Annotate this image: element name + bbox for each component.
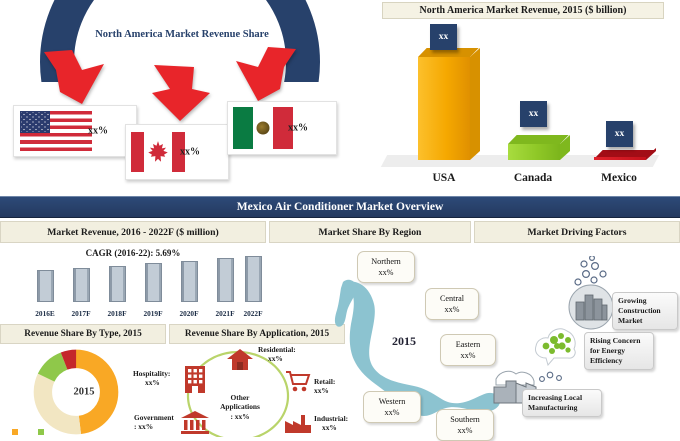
column-header-market-revenue: Market Revenue, 2016 - 2022F ($ million) [0, 221, 266, 243]
bank-icon [180, 410, 210, 434]
cagr-bar-2016 [37, 270, 54, 302]
arrow-to-mexico-icon [232, 45, 298, 107]
sub-header-revenue-share-application: Revenue Share By Application, 2015 [169, 324, 345, 344]
bar-canada-value: xx [520, 101, 547, 127]
driving-factor-local-manufacturing: Increasing Local Manufacturing [522, 389, 602, 417]
canada-share-value: xx% [162, 147, 218, 158]
map-callout-southern: Southern xx% [436, 409, 494, 441]
north-america-revenue-chart: North America Market Revenue, 2015 ($ bi… [372, 2, 672, 192]
cagr-bar-2017 [73, 268, 90, 302]
bar-mexico-value: xx [606, 121, 633, 147]
mexico-share-callout: xx% [227, 101, 337, 155]
bar-label-usa: USA [412, 172, 476, 184]
infographic-root: North America Market Revenue Share xx% [0, 0, 680, 437]
factory-icon [284, 412, 312, 434]
app-label-other: Other Applications : xx% [211, 393, 269, 421]
driving-factor-construction: Growing Construction Market [612, 292, 678, 330]
cagr-year-2016: 2016E [28, 309, 62, 318]
cagr-bar-2019 [145, 263, 162, 302]
donut-legend [12, 429, 46, 437]
bar-canada [508, 135, 560, 160]
donut-legend-item-2 [38, 429, 46, 437]
cagr-year-2022: 2022F [236, 309, 270, 318]
cagr-label: CAGR (2016-22): 5.69% [0, 248, 266, 258]
main-banner-title: Mexico Air Conditioner Market Overview [0, 196, 680, 218]
map-callout-central: Central xx% [425, 288, 479, 320]
green-cloud-icon [532, 322, 584, 366]
shopping-cart-icon [285, 370, 311, 392]
column-header-market-driving-factors: Market Driving Factors [474, 221, 680, 243]
cagr-year-2017: 2017F [64, 309, 98, 318]
cagr-bar-2022 [245, 256, 262, 302]
revenue-share-by-application-chart: Residential: xx% Retail: xx% Industrial:… [132, 344, 347, 437]
map-callout-eastern: Eastern xx% [440, 334, 496, 366]
chart-plot-area: xx xx xx [372, 22, 672, 170]
arrow-to-canada-icon [148, 63, 214, 125]
bar-usa-value: xx [430, 24, 457, 50]
hotel-icon [182, 364, 208, 394]
driving-factor-energy-efficiency: Rising Concern for Energy Efficiency [584, 332, 654, 370]
donut-center-label: 2015 [74, 387, 95, 398]
app-label-government: Government : xx% [134, 413, 174, 432]
map-year-label: 2015 [392, 334, 416, 349]
app-label-hospitality: Hospitality: xx% [133, 369, 170, 388]
bubbles-small-icon [538, 370, 564, 384]
mexico-share-value: xx% [270, 123, 326, 134]
cagr-year-2019: 2019F [136, 309, 170, 318]
donut-legend-item-1 [12, 429, 20, 437]
column-headers: Market Revenue, 2016 - 2022F ($ million)… [0, 221, 680, 243]
cagr-year-2018: 2018F [100, 309, 134, 318]
cagr-bar-2020 [181, 261, 198, 302]
usa-share-callout: xx% [13, 105, 137, 157]
house-icon [226, 347, 254, 371]
cagr-year-2020: 2020F [172, 309, 206, 318]
usa-share-value: xx% [70, 126, 126, 137]
map-callout-western: Western xx% [363, 391, 421, 423]
bar-label-canada: Canada [498, 172, 568, 184]
mexico-revenue-chart: CAGR (2016-22): 5.69% 2016E 2017F 2018F … [0, 246, 266, 320]
cagr-bar-2018 [109, 266, 126, 302]
donut-arc-label: North America Market Revenue Share [62, 28, 302, 42]
bar-label-mexico: Mexico [584, 172, 654, 184]
map-callout-northern: Northern xx% [357, 251, 415, 283]
sub-header-revenue-share-type: Revenue Share By Type, 2015 [0, 324, 166, 344]
chart-title: North America Market Revenue, 2015 ($ bi… [382, 2, 664, 19]
canada-share-callout: xx% [125, 124, 229, 180]
column-header-market-share-region: Market Share By Region [269, 221, 471, 243]
app-label-residential: Residential: xx% [258, 345, 296, 364]
bar-mexico [594, 150, 646, 160]
cagr-bar-2021 [217, 258, 234, 302]
sub-headers: Revenue Share By Type, 2015 Revenue Shar… [0, 324, 345, 344]
arrow-to-usa-icon [42, 48, 108, 110]
bar-usa [418, 48, 470, 160]
market-driving-factors: Growing Construction Market Rising Conce… [490, 248, 680, 437]
